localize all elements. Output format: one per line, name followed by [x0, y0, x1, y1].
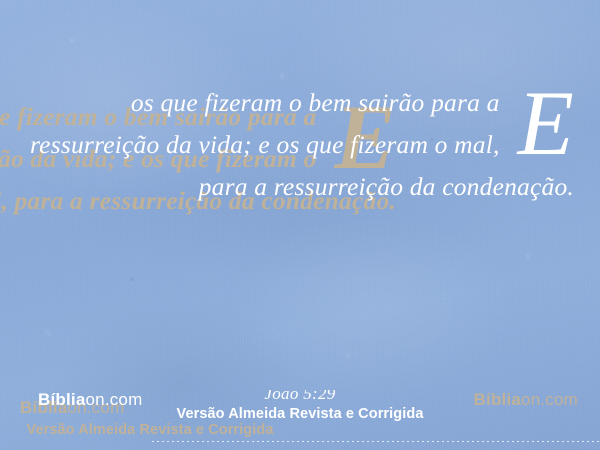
verse-image-card: E os que fizeram o bem sairão para a res… — [0, 0, 600, 450]
verse-block: E os que fizeram o bem sairão para a res… — [0, 56, 600, 233]
verse-dropcap: E — [510, 86, 574, 161]
bottom-dotted-rule — [152, 441, 600, 442]
bible-version-label: Versão Almeida Revista e Corrigida — [0, 406, 600, 422]
verse-reference: João 5:29 — [0, 390, 600, 401]
primary-text-layer: E os que fizeram o bem sairão para a res… — [0, 0, 600, 450]
verse-body: os que fizeram o bem sairão para a ressu… — [30, 88, 574, 201]
verse-paragraph: E os que fizeram o bem sairão para a res… — [26, 82, 574, 208]
footer: Bíbliaon.com João 5:29 Versão Almeida Re… — [0, 372, 600, 450]
reference-block: João 5:29 Versão Almeida Revista e Corri… — [0, 390, 600, 422]
